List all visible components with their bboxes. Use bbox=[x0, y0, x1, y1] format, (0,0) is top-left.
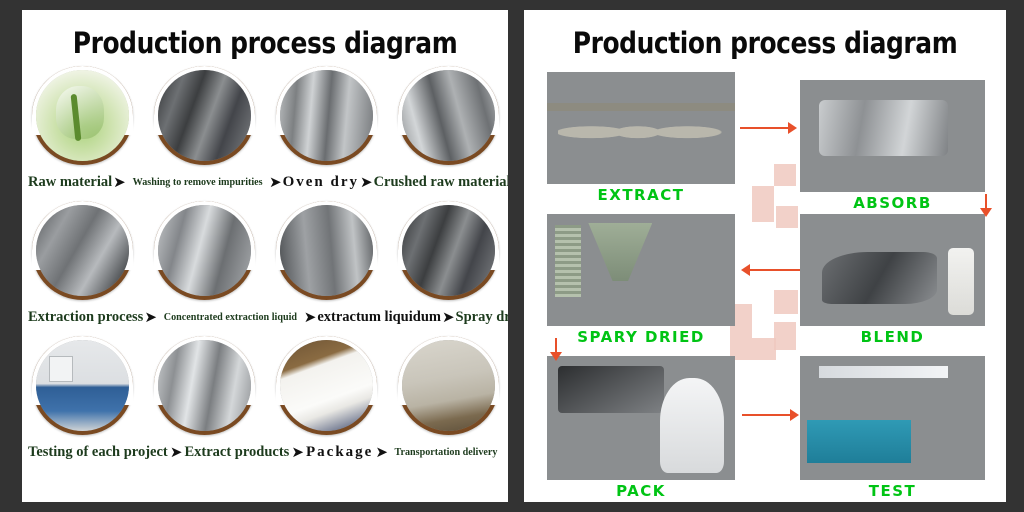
step-image-evaporator bbox=[280, 205, 373, 296]
step-thumb-cell bbox=[270, 201, 382, 300]
watermark-block bbox=[752, 186, 774, 222]
right-process-panel: Production process diagram bbox=[524, 10, 1006, 502]
photo-spray-dryer-room bbox=[547, 214, 735, 326]
process-cell-test: TEST bbox=[800, 356, 985, 480]
step-label-testing-of-each-project: Testing of each project bbox=[28, 444, 168, 461]
process-cell-blend: BLEND bbox=[800, 214, 985, 326]
step-thumb-cell bbox=[148, 66, 260, 165]
step-image-spray-dryer bbox=[402, 205, 495, 296]
circle-frame-oven-dry bbox=[276, 66, 377, 165]
flow-arrow-icon: ➤ bbox=[374, 445, 389, 460]
step-label-extract-products: Extract products bbox=[184, 444, 289, 461]
step-label-oven-dry: Oven dry bbox=[283, 174, 359, 191]
circle-frame-washing bbox=[154, 66, 255, 165]
step-thumb-cell bbox=[148, 201, 260, 300]
flow-arrow-icon: ➤ bbox=[268, 175, 283, 190]
step-thumb-cell bbox=[270, 336, 382, 435]
watermark-block bbox=[774, 290, 798, 314]
step-image-extract-cans bbox=[158, 340, 251, 431]
circle-frame-package bbox=[276, 336, 377, 435]
photo-qc-laboratory bbox=[800, 356, 985, 480]
step-image-lab-testing-bench bbox=[36, 340, 129, 431]
step-image-crushing-line bbox=[402, 70, 495, 161]
step-image-extraction-plant bbox=[36, 205, 129, 296]
step-thumb-cell bbox=[392, 66, 504, 165]
flow-arrow-icon: ➤ bbox=[290, 445, 305, 460]
circle-frame-extract-products bbox=[154, 336, 255, 435]
left-process-panel: Production process diagram bbox=[22, 10, 508, 502]
right-photo-grid: EXTRACT ABSORB SPARY DRIED BLEND PACK TE bbox=[524, 66, 1006, 496]
photo-extraction-vessels-hall bbox=[547, 72, 735, 184]
step-thumb-cell bbox=[270, 66, 382, 165]
caption-test: TEST bbox=[800, 480, 985, 502]
left-row-3-labels: Testing of each project ➤ Extract produc… bbox=[22, 439, 508, 465]
circle-frame-concentrated bbox=[154, 201, 255, 300]
step-thumb-cell bbox=[148, 336, 260, 435]
step-image-packaging-bags bbox=[280, 340, 373, 431]
left-row-1-images bbox=[22, 66, 508, 165]
flow-arrow-icon: ➤ bbox=[359, 175, 374, 190]
step-image-raw-plant-extract-flask bbox=[36, 70, 129, 161]
caption-pack: PACK bbox=[547, 480, 735, 502]
caption-absorb: ABSORB bbox=[800, 192, 985, 214]
step-image-pallet-shipment bbox=[402, 340, 495, 431]
step-image-oven-dryer bbox=[280, 70, 373, 161]
process-cell-extract: EXTRACT bbox=[547, 72, 735, 184]
flow-arrow-icon: ➤ bbox=[112, 175, 127, 190]
step-thumb-cell bbox=[392, 336, 504, 435]
watermark-block bbox=[774, 164, 796, 186]
flow-arrow-icon: ➤ bbox=[169, 445, 184, 460]
step-label-raw-material: Raw material bbox=[28, 174, 112, 191]
left-row-3-images bbox=[22, 336, 508, 435]
step-label-extractum-liquidum: extractum liquidum bbox=[317, 309, 441, 326]
photo-packing-operator-cleanroom bbox=[547, 356, 735, 480]
process-cell-absorb: ABSORB bbox=[800, 80, 985, 192]
flow-arrow-absorb-to-blend bbox=[985, 194, 987, 208]
step-thumb-cell bbox=[26, 336, 138, 435]
step-label-transportation-delivery: Transportation delivery bbox=[395, 446, 498, 458]
circle-frame-transportation bbox=[398, 336, 499, 435]
flow-arrow-icon: ➤ bbox=[441, 310, 456, 325]
process-cell-spary-dried: SPARY DRIED bbox=[547, 214, 735, 326]
step-thumb-cell bbox=[392, 201, 504, 300]
step-thumb-cell bbox=[26, 201, 138, 300]
process-cell-pack: PACK bbox=[547, 356, 735, 480]
screenshot-root: Production process diagram bbox=[0, 0, 1024, 512]
circle-frame-extractum bbox=[276, 201, 377, 300]
circle-frame-spray-drying bbox=[398, 201, 499, 300]
step-label-washing: Washing to remove impurities bbox=[132, 176, 262, 188]
step-label-crushed-raw-materials: Crushed raw materials bbox=[374, 174, 508, 191]
watermark-block bbox=[774, 322, 796, 350]
right-panel-title: Production process diagram bbox=[558, 26, 973, 60]
caption-extract: EXTRACT bbox=[547, 184, 735, 206]
flow-arrow-pack-to-test bbox=[742, 414, 790, 416]
flow-arrow-icon: ➤ bbox=[143, 310, 158, 325]
watermark-block bbox=[776, 206, 798, 228]
circle-frame-testing bbox=[32, 336, 133, 435]
left-row-1-labels: Raw material ➤ Washing to remove impurit… bbox=[22, 169, 508, 195]
step-label-concentrated-extraction-liquid: Concentrated extraction liquid bbox=[164, 311, 297, 323]
step-label-package: Package bbox=[306, 444, 373, 461]
watermark-block bbox=[730, 338, 776, 360]
left-panel-title: Production process diagram bbox=[56, 26, 474, 60]
flow-arrow-blend-to-spray bbox=[750, 269, 800, 271]
step-label-spray-drying: Spray drying bbox=[456, 309, 508, 326]
left-row-2-images bbox=[22, 201, 508, 300]
circle-frame-extraction bbox=[32, 201, 133, 300]
photo-absorption-column-room bbox=[800, 80, 985, 192]
step-label-extraction-process: Extraction process bbox=[28, 309, 143, 326]
flow-arrow-icon: ➤ bbox=[303, 310, 318, 325]
step-thumb-cell bbox=[26, 66, 138, 165]
left-row-2-labels: Extraction process ➤ Concentrated extrac… bbox=[22, 304, 508, 330]
step-image-concentration-tanks bbox=[158, 205, 251, 296]
photo-blending-machine-operator bbox=[800, 214, 985, 326]
flow-arrow-spray-to-pack bbox=[555, 338, 557, 352]
step-image-washing-tanks bbox=[158, 70, 251, 161]
caption-spary-dried: SPARY DRIED bbox=[547, 326, 735, 348]
circle-frame-crushed bbox=[398, 66, 499, 165]
flow-arrow-extract-to-absorb bbox=[740, 127, 788, 129]
caption-blend: BLEND bbox=[800, 326, 985, 348]
circle-frame-raw-material bbox=[32, 66, 133, 165]
